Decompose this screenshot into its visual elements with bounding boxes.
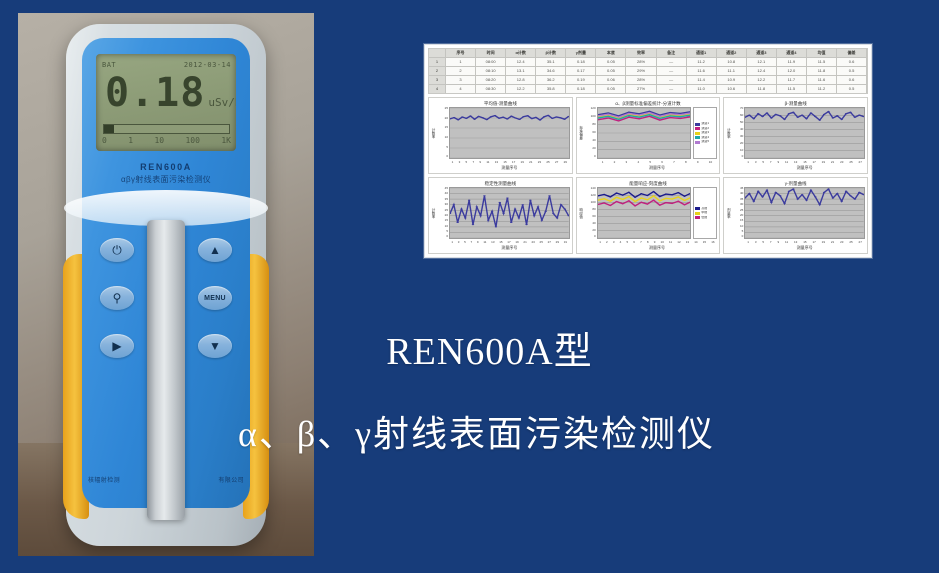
chart-legend-item: 通道5: [695, 140, 715, 144]
chart-x-tick: 8: [685, 160, 687, 164]
lcd-scale-tick: 10: [154, 136, 164, 145]
chart-y-tick: 60: [592, 131, 595, 135]
table-cell: 10.6: [717, 85, 747, 93]
chart-y-tick: 50: [740, 121, 743, 125]
power-icon: ⏻: [112, 244, 122, 256]
chart-x-tick: 23: [840, 160, 843, 164]
table-row[interactable]: 4408:3012.235.80.180.0527%—11.010.611.81…: [429, 85, 867, 93]
chart-x-tick: 10: [661, 240, 664, 244]
chart-plot-area: [597, 187, 692, 239]
chart-legend-item: 通道1: [695, 122, 715, 126]
up-button[interactable]: ▲: [198, 238, 232, 262]
chart-x-tick: 11: [483, 240, 486, 244]
table-cell: 0.18: [566, 85, 596, 93]
table-cell: 0.05: [596, 58, 626, 66]
chart-y-tick: 15: [740, 219, 743, 223]
chart-x-tick: 19: [515, 240, 518, 244]
chart-y-tick: 40: [740, 192, 743, 196]
menu-button-label: MENU: [204, 295, 226, 302]
chart-x-tick: 17: [507, 240, 510, 244]
chart-x-tick: 29: [556, 240, 559, 244]
chart-y-ticks: 2520151050: [438, 107, 449, 159]
chart-x-tick: 6: [633, 240, 635, 244]
power-button[interactable]: ⏻: [100, 238, 134, 262]
chart-y-tick: 40: [592, 222, 595, 226]
table-cell: 0.05: [596, 67, 626, 75]
chart-beta-count[interactable]: β-测量曲线计数率7060504030201001357911131517192…: [723, 97, 868, 174]
chart-x-tick: 5: [762, 160, 764, 164]
chart-x-tick: 15: [503, 160, 506, 164]
chart-x-tick: 17: [512, 160, 515, 164]
chart-legend-swatch: [695, 132, 700, 135]
chart-legend-item: 低能: [695, 216, 715, 220]
chart-y-tick: 40: [592, 139, 595, 143]
chart-x-tick: 3: [626, 160, 628, 164]
chart-x-tick: 5: [626, 240, 628, 244]
chart-x-tick: 16: [711, 240, 714, 244]
chart-y-axis-label: 响应值: [579, 187, 586, 239]
table-cell: 0.6: [837, 58, 867, 66]
table-cell: 12.2: [747, 76, 777, 84]
lcd-bargraph: [103, 124, 230, 134]
chart-x-tick: 27: [859, 240, 862, 244]
chart-legend-label: 中能: [701, 211, 707, 215]
chart-y-tick: 20: [740, 142, 743, 146]
chart-x-tick: 13: [495, 160, 498, 164]
chart-x-tick: 2: [614, 160, 616, 164]
lcd-date-indicator: 2012-03-14: [184, 61, 231, 69]
chart-y-tick: 40: [445, 192, 448, 196]
chart-x-tick: 23: [538, 160, 541, 164]
table-cell: 10.8: [717, 58, 747, 66]
chart-legend-swatch: [695, 207, 700, 210]
chart-x-tick: 7: [770, 240, 772, 244]
table-row-header: 4: [429, 85, 446, 93]
chart-y-tick: 25: [445, 209, 448, 213]
chart-x-tick: 7: [673, 160, 675, 164]
chart-x-tick: 1: [602, 160, 604, 164]
table-header-cell: 本底: [596, 49, 626, 57]
table-cell: 0.5: [837, 67, 867, 75]
chart-legend-label: 通道2: [701, 127, 709, 131]
chart-plot-area: [744, 187, 865, 239]
table-cell: —: [657, 67, 687, 75]
chart-y-tick: 20: [740, 214, 743, 218]
table-cell: 0.6: [837, 76, 867, 84]
chart-y-tick: 15: [445, 126, 448, 130]
chart-y-tick: 5: [446, 230, 448, 234]
lcd-scale-tick: 0: [102, 136, 107, 145]
table-row-header: 2: [429, 67, 446, 75]
chart-y-tick: 30: [445, 203, 448, 207]
data-table: 序号时间α计数β计数γ剂量本底效率备注通道1通道2通道3通道4均值偏差1108:…: [428, 48, 868, 94]
chart-x-axis-label: 测量序号: [726, 245, 865, 251]
chart-x-tick: 11: [486, 160, 489, 164]
table-cell: 3: [446, 76, 476, 84]
chart-title: α、β测量标准偏差统计-分道计数: [579, 100, 718, 107]
chart-body: 响应值140120100806040200高能中能低能: [579, 187, 718, 239]
table-cell: 11.0: [687, 85, 717, 93]
table-cell: 11.7: [777, 76, 807, 84]
chart-x-tick: 4: [620, 240, 622, 244]
chart-x-tick: 14: [694, 240, 697, 244]
chart-title: 能量响应-刻度曲线: [579, 180, 718, 187]
chart-x-tick: 3: [755, 160, 757, 164]
page-title-model: REN600A型: [0, 330, 939, 374]
table-cell: 13.1: [506, 67, 536, 75]
chart-y-tick: 5: [446, 146, 448, 150]
chart-x-tick: 1: [747, 160, 749, 164]
chart-y-ticks: 454035302520151050: [733, 187, 744, 239]
chart-y-tick: 100: [591, 201, 596, 205]
table-cell: —: [657, 58, 687, 66]
chart-x-tick: 15: [803, 240, 806, 244]
chart-x-tick: 23: [531, 240, 534, 244]
chart-x-tick: 7: [471, 240, 473, 244]
chart-y-tick: 20: [445, 214, 448, 218]
chart-legend-label: 通道3: [701, 131, 709, 135]
chart-legend-item: 高能: [695, 207, 715, 211]
chart-y-tick: 15: [445, 219, 448, 223]
chart-x-tick: 21: [523, 240, 526, 244]
table-cell: 0.05: [596, 85, 626, 93]
chart-title: γ-剂量曲线: [726, 180, 865, 187]
chart-x-tick: 11: [785, 240, 788, 244]
chart-x-tick: 8: [647, 240, 649, 244]
chart-y-tick: 120: [591, 107, 596, 111]
chart-body: 计数率2520151050: [431, 107, 570, 159]
chart-x-tick: 21: [529, 160, 532, 164]
chart-body: 剂量率454035302520151050: [726, 187, 865, 239]
lcd-display: BAT 2012-03-14 0.18 uSv/h 01101001K: [96, 54, 236, 151]
chart-x-tick: 13: [686, 240, 689, 244]
chart-x-tick: 7: [640, 240, 642, 244]
chart-x-tick: 13: [794, 240, 797, 244]
chart-x-tick: 3: [458, 240, 460, 244]
device-description-label: αβγ射线表面污染检测仪: [82, 174, 250, 185]
chart-x-tick: 7: [472, 160, 474, 164]
chart-legend-item: 通道4: [695, 136, 715, 140]
chart-legend-swatch: [695, 123, 700, 126]
chart-y-tick: 140: [591, 187, 596, 191]
table-cell: 08:10: [476, 67, 506, 75]
chart-x-tick: 10: [709, 160, 712, 164]
table-cell: 0.18: [566, 58, 596, 66]
chart-x-tick: 21: [831, 240, 834, 244]
chart-x-tick: 5: [649, 160, 651, 164]
chart-x-tick: 25: [849, 240, 852, 244]
chart-gamma-dose[interactable]: γ-剂量曲线剂量率4540353025201510501357911131517…: [723, 177, 868, 254]
chart-x-tick: 12: [677, 240, 680, 244]
chart-legend-label: 通道4: [701, 136, 709, 140]
table-cell: 11.8: [747, 85, 777, 93]
chart-y-ticks: 140120100806040200: [586, 187, 597, 239]
chart-y-tick: 35: [740, 198, 743, 202]
table-cell: 11.6: [807, 76, 837, 84]
chart-plot-area: [744, 107, 865, 159]
table-cell: 11.4: [687, 76, 717, 84]
table-cell: —: [657, 76, 687, 84]
table-row-header: 3: [429, 76, 446, 84]
chart-x-tick: 1: [599, 240, 601, 244]
chart-x-tick: 1: [452, 160, 454, 164]
chart-y-axis-label: 计数率: [726, 107, 733, 159]
table-cell: 10.9: [717, 76, 747, 84]
table-cell: 2: [446, 67, 476, 75]
table-corner-cell: [429, 49, 446, 57]
table-cell: 0.06: [596, 76, 626, 84]
chart-y-axis-label: 计数率: [431, 187, 438, 239]
chart-y-tick: 20: [445, 117, 448, 121]
table-cell: 11.6: [687, 67, 717, 75]
chart-legend-label: 低能: [701, 216, 707, 220]
chart-y-tick: 80: [592, 123, 595, 127]
chart-y-ticks: 454035302520151050: [438, 187, 449, 239]
chart-x-tick: 15: [803, 160, 806, 164]
table-cell: 36.2: [536, 76, 566, 84]
table-cell: 11.1: [717, 67, 747, 75]
table-cell: 11.8: [807, 67, 837, 75]
table-cell: 11.2: [687, 58, 717, 66]
search-button[interactable]: ⚲: [100, 286, 134, 310]
table-cell: 29%: [626, 67, 656, 75]
table-cell: 1: [446, 58, 476, 66]
chart-y-ticks: 706050403020100: [733, 107, 744, 159]
chart-x-tick: 23: [840, 240, 843, 244]
chart-x-tick: 5: [762, 240, 764, 244]
table-cell: 11.9: [777, 58, 807, 66]
chart-legend-item: 中能: [695, 211, 715, 215]
chart-x-tick: 3: [613, 240, 615, 244]
table-cell: —: [657, 85, 687, 93]
table-cell: 12.1: [747, 58, 777, 66]
chart-x-tick: 25: [540, 240, 543, 244]
chart-y-tick: 35: [445, 198, 448, 202]
table-header-cell: 通道3: [747, 49, 777, 57]
chart-y-tick: 60: [740, 114, 743, 118]
chart-y-tick: 25: [445, 107, 448, 111]
charts-grid: 平均值-测量曲线计数率25201510501357911131517192123…: [428, 97, 868, 254]
table-cell: 28%: [626, 76, 656, 84]
lcd-reading: 0.18 uSv/h: [105, 73, 230, 120]
chart-title: β-测量曲线: [726, 100, 865, 107]
lcd-scale-tick: 100: [185, 136, 199, 145]
chart-x-tick: 15: [703, 240, 706, 244]
chart-x-axis-label: 测量序号: [579, 245, 718, 251]
table-cell: 12.0: [777, 67, 807, 75]
chart-y-tick: 40: [740, 128, 743, 132]
chart-y-axis-label: 计数率: [431, 107, 438, 159]
table-header-cell: 均值: [807, 49, 837, 57]
table-header-cell: 时间: [476, 49, 506, 57]
chart-legend: 高能中能低能: [693, 187, 717, 239]
chart-legend-label: 通道1: [701, 122, 709, 126]
device-model-label: REN600A: [82, 162, 250, 172]
chart-body: 标准偏差120100806040200通道1通道2通道3通道4通道5: [579, 107, 718, 159]
chart-legend-swatch: [695, 212, 700, 215]
chart-x-tick: 13: [491, 240, 494, 244]
chart-x-tick: 9: [697, 160, 699, 164]
table-cell: 4: [446, 85, 476, 93]
chart-x-tick: 19: [521, 160, 524, 164]
lcd-scale-tick: 1K: [221, 136, 231, 145]
chart-y-tick: 100: [591, 115, 596, 119]
device-brand: REN600A αβγ射线表面污染检测仪: [82, 162, 250, 185]
table-cell: 35.8: [536, 85, 566, 93]
chart-y-tick: 10: [445, 225, 448, 229]
lcd-bargraph-fill: [104, 125, 114, 133]
chart-x-tick: 9: [777, 240, 779, 244]
table-cell: 12.4: [747, 67, 777, 75]
table-header-cell: 通道1: [687, 49, 717, 57]
chart-x-tick: 13: [794, 160, 797, 164]
chart-x-tick: 25: [546, 160, 549, 164]
chart-legend-item: 通道3: [695, 131, 715, 135]
chart-y-tick: 120: [591, 194, 596, 198]
slide-background: BAT 2012-03-14 0.18 uSv/h 01101001K REN6…: [0, 0, 939, 573]
chart-y-tick: 45: [445, 187, 448, 191]
lcd-unit: uSv/h: [208, 96, 236, 109]
table-header-cell: 效率: [626, 49, 656, 57]
chart-x-tick: 9: [479, 160, 481, 164]
chart-title: 平均值-测量曲线: [431, 100, 570, 107]
table-cell: 12.4: [506, 58, 536, 66]
chart-y-tick: 80: [592, 208, 595, 212]
chart-x-tick: 2: [606, 240, 608, 244]
chart-energy-response[interactable]: 能量响应-刻度曲线响应值140120100806040200高能中能低能1234…: [576, 177, 721, 254]
chart-x-tick: 31: [564, 240, 567, 244]
chart-legend-swatch: [695, 127, 700, 130]
table-cell: 11.2: [807, 85, 837, 93]
lcd-scale: 01101001K: [102, 134, 231, 147]
chart-x-tick: 3: [755, 240, 757, 244]
chart-legend-swatch: [695, 136, 700, 139]
table-cell: 11.5: [807, 58, 837, 66]
search-icon: ⚲: [113, 292, 122, 304]
chart-x-tick: 11: [669, 240, 672, 244]
chart-x-tick: 27: [548, 240, 551, 244]
table-cell: 0.17: [566, 67, 596, 75]
chart-y-axis-label: 剂量率: [726, 187, 733, 239]
device-footer-left: 核辐射检测: [88, 475, 120, 484]
chart-x-tick: 29: [564, 160, 567, 164]
chart-x-axis-label: 测量序号: [726, 165, 865, 171]
chart-x-tick: 25: [849, 160, 852, 164]
table-header-cell: 序号: [446, 49, 476, 57]
table-cell: 12.8: [506, 76, 536, 84]
table-header-cell: α计数: [506, 49, 536, 57]
chart-x-tick: 9: [477, 240, 479, 244]
table-cell: 0.5: [837, 85, 867, 93]
device-body: BAT 2012-03-14 0.18 uSv/h 01101001K REN6…: [66, 24, 266, 546]
device-photo: BAT 2012-03-14 0.18 uSv/h 01101001K REN6…: [18, 13, 314, 556]
lcd-battery-indicator: BAT: [102, 61, 116, 69]
chart-y-tick: 30: [740, 203, 743, 207]
chart-x-axis-label: 测量序号: [431, 165, 570, 171]
chart-multichannel[interactable]: α、β测量标准偏差统计-分道计数标准偏差120100806040200通道1通道…: [576, 97, 721, 174]
chart-y-tick: 60: [592, 215, 595, 219]
chart-stability[interactable]: 稳定性测量曲线计数率454035302520151050135791113151…: [428, 177, 573, 254]
chart-y-tick: 5: [742, 230, 744, 234]
chart-x-tick: 4: [637, 160, 639, 164]
table-row-header: 1: [429, 58, 446, 66]
chart-plot-area: [597, 107, 692, 159]
table-cell: 34.6: [536, 67, 566, 75]
lcd-value: 0.18: [105, 73, 205, 113]
chart-x-tick: 9: [654, 240, 656, 244]
table-header-cell: β计数: [536, 49, 566, 57]
table-header-row: 序号时间α计数β计数γ剂量本底效率备注通道1通道2通道3通道4均值偏差: [429, 49, 867, 58]
chart-y-tick: 20: [592, 147, 595, 151]
chart-x-tick: 1: [451, 240, 453, 244]
chart-plot-area: [449, 107, 570, 159]
chart-y-axis-label: 标准偏差: [579, 107, 586, 159]
table-cell: 0.19: [566, 76, 596, 84]
lcd-scale-tick: 1: [128, 136, 133, 145]
table-cell: 28%: [626, 58, 656, 66]
chart-y-tick: 30: [740, 135, 743, 139]
chart-x-tick: 5: [466, 160, 468, 164]
chart-y-tick: 10: [740, 225, 743, 229]
chart-y-tick: 10: [445, 136, 448, 140]
chart-legend-swatch: [695, 216, 700, 219]
software-screenshot-panel: 序号时间α计数β计数γ剂量本底效率备注通道1通道2通道3通道4均值偏差1108:…: [424, 44, 872, 258]
chart-x-tick: 19: [822, 240, 825, 244]
chart-x-tick: 19: [822, 160, 825, 164]
chart-x-tick: 7: [770, 160, 772, 164]
chart-x-tick: 27: [555, 160, 558, 164]
chart-x-tick: 17: [812, 240, 815, 244]
chart-body: 计数率706050403020100: [726, 107, 865, 159]
chart-legend-label: 通道5: [701, 140, 709, 144]
table-cell: 11.5: [777, 85, 807, 93]
chart-x-tick: 9: [777, 160, 779, 164]
chart-x-tick: 15: [499, 240, 502, 244]
chart-x-tick: 3: [459, 160, 461, 164]
chart-y-ticks: 120100806040200: [586, 107, 597, 159]
chart-legend-swatch: [695, 141, 700, 144]
table-header-cell: 偏差: [837, 49, 867, 57]
chart-x-tick: 21: [831, 160, 834, 164]
table-row[interactable]: 1108:0012.435.10.180.0528%—11.210.812.11…: [429, 58, 867, 67]
chart-title: 稳定性测量曲线: [431, 180, 570, 187]
chart-alpha-mean[interactable]: 平均值-测量曲线计数率25201510501357911131517192123…: [428, 97, 573, 174]
table-cell: 27%: [626, 85, 656, 93]
chart-y-tick: 45: [740, 187, 743, 191]
menu-button[interactable]: MENU: [198, 286, 232, 310]
chart-x-tick: 11: [785, 160, 788, 164]
table-cell: 12.2: [506, 85, 536, 93]
chart-x-tick: 27: [859, 160, 862, 164]
chart-x-tick: 6: [661, 160, 663, 164]
table-row[interactable]: 2208:1013.134.60.170.0529%—11.611.112.41…: [429, 67, 867, 76]
chart-body: 计数率454035302520151050: [431, 187, 570, 239]
table-header-cell: γ剂量: [566, 49, 596, 57]
chart-y-tick: 20: [592, 229, 595, 233]
chart-legend-label: 高能: [701, 207, 707, 211]
table-header-cell: 备注: [657, 49, 687, 57]
table-header-cell: 通道4: [777, 49, 807, 57]
chart-y-tick: 70: [740, 107, 743, 111]
up-icon: ▲: [209, 244, 221, 256]
table-row[interactable]: 3308:2012.836.20.190.0628%—11.410.912.21…: [429, 76, 867, 85]
chart-x-axis-label: 测量序号: [431, 245, 570, 251]
table-cell: 08:30: [476, 85, 506, 93]
table-cell: 08:00: [476, 58, 506, 66]
table-header-cell: 通道2: [717, 49, 747, 57]
device-footer-right: 有限公司: [218, 475, 244, 484]
page-title-description: α、β、γ射线表面污染检测仪: [0, 408, 939, 460]
